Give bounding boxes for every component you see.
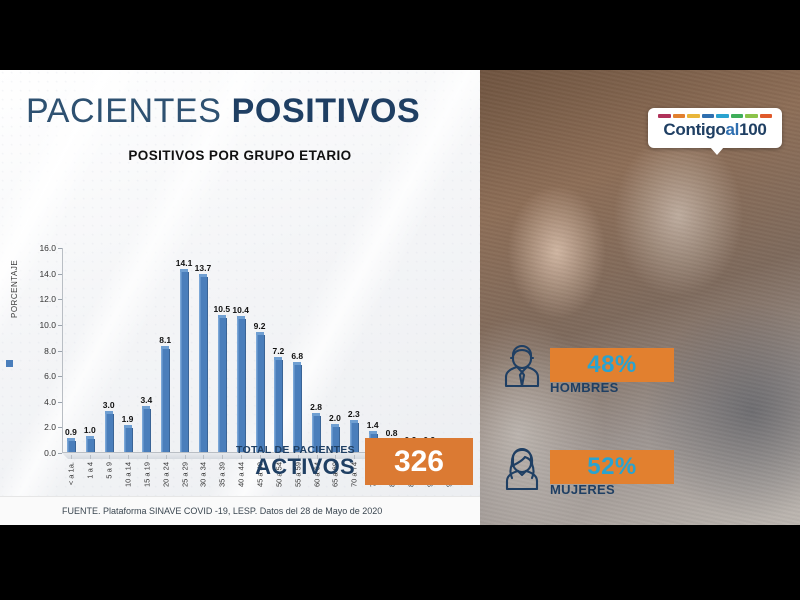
mujeres-percent: 52% (587, 453, 637, 481)
logo-stripes (658, 114, 772, 118)
bar-cell: 9.2 (251, 248, 270, 452)
chart-subtitle: POSITIVOS POR GRUPO ETARIO (0, 148, 480, 163)
bar-value-label: 6.8 (291, 351, 303, 361)
bar: 8.1 (161, 349, 170, 452)
y-axis-tick-label: 2.0 (44, 422, 56, 432)
x-axis-tick-mark (128, 455, 129, 459)
y-axis-tick-label: 10.0 (39, 320, 56, 330)
bar: 14.1 (180, 272, 189, 452)
letterbox-top (0, 0, 800, 70)
x-axis-tick-label: 35 a 39 (218, 462, 227, 487)
x-axis-tick-label: 10 a 14 (124, 462, 133, 487)
bar-value-label: 1.0 (84, 425, 96, 435)
total-active-text: TOTAL DE PACIENTES ACTIVOS (236, 444, 365, 478)
left-panel: PACIENTES POSITIVOS POSITIVOS POR GRUPO … (0, 70, 480, 525)
bar-cell: 2.0 (326, 248, 345, 452)
bar: 3.4 (142, 409, 151, 452)
x-axis-tick-label: 25 a 29 (180, 462, 189, 487)
x-axis-tick-mark (90, 455, 91, 459)
x-axis-tick-mark (203, 455, 204, 459)
logo-stripe (702, 114, 715, 118)
bar-value-label: 10.4 (232, 305, 249, 315)
y-axis: 0.02.04.06.08.010.012.014.016.0 (28, 248, 62, 453)
logo-text-al: al (726, 120, 740, 139)
x-axis-tick-label: < a 1a. (67, 462, 76, 485)
y-axis-label: PORCENTAJE (10, 260, 19, 318)
bar-cell: 6.8 (288, 248, 307, 452)
bar-cell: 1.4 (364, 248, 383, 452)
bar-cell: 2.8 (307, 248, 326, 452)
bar-value-label: 1.4 (367, 420, 379, 430)
bar-cell: 7.2 (269, 248, 288, 452)
hombres-label: HOMBRES (550, 380, 619, 395)
y-axis-tick-label: 0.0 (44, 448, 56, 458)
x-axis-tick-mark (147, 455, 148, 459)
legend-swatch (6, 360, 13, 367)
x-axis-tick-mark (109, 455, 110, 459)
bar: 0.9 (67, 441, 76, 452)
mujeres-percent-bar: 52% (550, 450, 674, 484)
bar-value-label: 2.0 (329, 413, 341, 423)
contigo-al-100-logo: Contigoal100 (648, 108, 782, 148)
bar-value-label: 3.4 (140, 395, 152, 405)
bar-cell: 0.9 (62, 248, 81, 452)
total-active-badge: TOTAL DE PACIENTES ACTIVOS 326 (236, 438, 473, 485)
bar-cell: 3.0 (100, 248, 119, 452)
logo-text: Contigoal100 (648, 120, 782, 140)
bar-cell: 0.1 (439, 248, 458, 452)
man-icon (500, 342, 544, 388)
bar-value-label: 13.7 (195, 263, 212, 273)
logo-stripe (658, 114, 671, 118)
bar-value-label: 7.2 (272, 346, 284, 356)
bar-cell: 10.4 (232, 248, 251, 452)
slide-frame: PACIENTES POSITIVOS POSITIVOS POR GRUPO … (0, 0, 800, 600)
bar-value-label: 2.3 (348, 409, 360, 419)
bar-value-label: 8.1 (159, 335, 171, 345)
bar: 13.7 (199, 277, 208, 452)
letterbox-bottom (0, 525, 800, 600)
right-photo-panel: Contigoal100 48% (480, 70, 800, 525)
source-text: FUENTE. Plataforma SINAVE COVID -19, LES… (62, 506, 382, 516)
logo-text-contigo: Contigo (663, 120, 725, 139)
bar: 9.2 (256, 335, 265, 452)
bar: 10.5 (218, 318, 227, 452)
x-axis-tick-mark (222, 455, 223, 459)
bar-cell: 3.4 (137, 248, 156, 452)
mujeres-label: MUJERES (550, 482, 615, 497)
bar-cell: 0.8 (383, 248, 402, 452)
bar-value-label: 3.0 (103, 400, 115, 410)
bar-value-label: 14.1 (176, 258, 193, 268)
bar-cell: 14.1 (175, 248, 194, 452)
page-title-light: PACIENTES (26, 92, 222, 130)
bar-cell: 0.2 (401, 248, 420, 452)
x-axis-tick-label: 5 a 9 (105, 462, 114, 479)
bar-cell: 1.9 (119, 248, 138, 452)
bar: 1.0 (86, 439, 95, 452)
logo-stripe (760, 114, 773, 118)
logo-stripe (716, 114, 729, 118)
hombres-percent: 48% (587, 351, 637, 379)
y-axis-tick-label: 14.0 (39, 269, 56, 279)
y-axis-tick-label: 12.0 (39, 294, 56, 304)
logo-text-100: 100 (739, 120, 766, 139)
logo-stripe (687, 114, 700, 118)
bar: 3.0 (105, 414, 114, 452)
bar-cell: 1.0 (81, 248, 100, 452)
logo-tail (710, 147, 724, 155)
bar-value-label: 9.2 (254, 321, 266, 331)
bar-cell: 0.2 (420, 248, 439, 452)
x-axis-tick-label: 15 a 19 (142, 462, 151, 487)
slide-content: PACIENTES POSITIVOS POSITIVOS POR GRUPO … (0, 70, 800, 525)
bar: 10.4 (237, 319, 246, 452)
y-axis-tick-label: 6.0 (44, 371, 56, 381)
x-axis-tick-label: 1 a 4 (86, 462, 95, 479)
logo-stripe (745, 114, 758, 118)
total-active-line2: ACTIVOS (236, 456, 355, 478)
logo-stripe (731, 114, 744, 118)
bar-value-label: 2.8 (310, 402, 322, 412)
source-footer: FUENTE. Plataforma SINAVE COVID -19, LES… (0, 496, 480, 525)
woman-icon (500, 444, 544, 490)
bar-series: 0.91.03.01.93.48.114.113.710.510.49.27.2… (62, 248, 458, 452)
y-axis-tick-label: 16.0 (39, 243, 56, 253)
x-axis-tick-label: 20 a 24 (161, 462, 170, 487)
x-axis-tick-mark (166, 455, 167, 459)
bar-value-label: 0.9 (65, 427, 77, 437)
bar: 1.9 (124, 428, 133, 452)
total-active-value: 326 (365, 438, 473, 485)
plot-area: 0.91.03.01.93.48.114.113.710.510.49.27.2… (62, 248, 458, 453)
y-axis-tick-mark (58, 453, 62, 454)
x-axis-tick-label: 30 a 34 (199, 462, 208, 487)
x-axis-tick-mark (71, 455, 72, 459)
bar-value-label: 1.9 (122, 414, 134, 424)
page-title-bold: POSITIVOS (232, 92, 421, 130)
bar-value-label: 0.8 (386, 428, 398, 438)
bar-cell: 8.1 (156, 248, 175, 452)
page-title: PACIENTES POSITIVOS (26, 92, 420, 131)
hombres-percent-bar: 48% (550, 348, 674, 382)
y-axis-tick-label: 8.0 (44, 346, 56, 356)
logo-stripe (673, 114, 686, 118)
bar-cell: 10.5 (213, 248, 232, 452)
bar-cell: 13.7 (194, 248, 213, 452)
bar-value-label: 10.5 (214, 304, 231, 314)
bar-cell: 2.3 (345, 248, 364, 452)
y-axis-tick-label: 4.0 (44, 397, 56, 407)
x-axis-tick-mark (185, 455, 186, 459)
